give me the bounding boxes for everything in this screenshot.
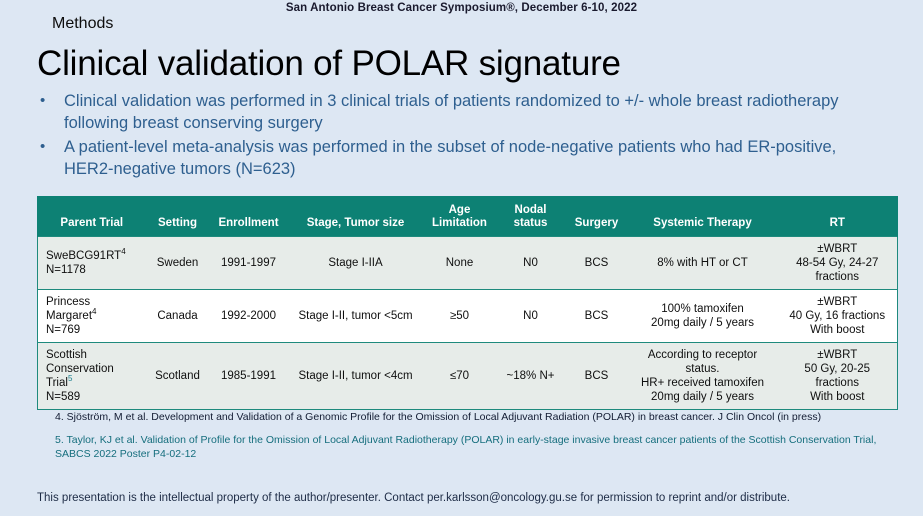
symposium-banner: San Antonio Breast Cancer Symposium®, De… — [0, 0, 923, 17]
page-title: Clinical validation of POLAR signature — [37, 43, 621, 85]
cell-parent-trial: SweBCG91RT4 N=1178 — [38, 237, 146, 290]
column-header-age-limitation: Age Limitation — [424, 196, 496, 237]
cell-enrollment: 1991-1997 — [210, 237, 288, 290]
list-item: • A patient-level meta-analysis was perf… — [40, 136, 890, 180]
cell-parent-trial: Princess Margaret4 N=769 — [38, 290, 146, 343]
cell-surgery: BCS — [566, 290, 628, 343]
cell-setting: Sweden — [146, 237, 210, 290]
trial-footnote-ref: 5 — [68, 374, 72, 383]
cell-enrollment: 1992-2000 — [210, 290, 288, 343]
footnote-reference-5: 5. Taylor, KJ et al. Validation of Profi… — [55, 433, 895, 461]
trial-n: N=769 — [46, 324, 80, 336]
column-header-parent-trial: Parent Trial — [38, 196, 146, 237]
column-header-stage-tumor-size: Stage, Tumor size — [288, 196, 424, 237]
cell-rt: ±WBRT50 Gy, 20-25fractionsWith boost — [778, 343, 898, 410]
trial-table-container: Parent Trial Setting Enrollment Stage, T… — [37, 196, 897, 410]
trial-table: Parent Trial Setting Enrollment Stage, T… — [37, 196, 898, 410]
cell-setting: Canada — [146, 290, 210, 343]
copyright-disclaimer: This presentation is the intellectual pr… — [37, 491, 897, 506]
column-header-surgery: Surgery — [566, 196, 628, 237]
cell-systemic-therapy: According to receptor status.HR+ receive… — [628, 343, 778, 410]
cell-rt: ±WBRT48-54 Gy, 24-27fractions — [778, 237, 898, 290]
cell-surgery: BCS — [566, 343, 628, 410]
cell-setting: Scotland — [146, 343, 210, 410]
table-row: Scottish Conservation Trial5 N=589 Scotl… — [38, 343, 898, 410]
section-label: Methods — [52, 14, 113, 34]
table-row: Princess Margaret4 N=769 Canada 1992-200… — [38, 290, 898, 343]
cell-age-limitation: ≥50 — [424, 290, 496, 343]
trial-n: N=589 — [46, 391, 80, 403]
column-header-systemic-therapy: Systemic Therapy — [628, 196, 778, 237]
cell-age-limitation: None — [424, 237, 496, 290]
cell-stage: Stage I-IIA — [288, 237, 424, 290]
footnote-reference-4: 4. Sjöström, M et al. Development and Va… — [55, 410, 895, 424]
trial-name: Princess Margaret — [46, 296, 92, 322]
table-row: SweBCG91RT4 N=1178 Sweden 1991-1997 Stag… — [38, 237, 898, 290]
bullet-list: • Clinical validation was performed in 3… — [40, 90, 890, 182]
trial-footnote-ref: 4 — [92, 307, 96, 316]
cell-nodal-status: N0 — [496, 237, 566, 290]
table-header-row: Parent Trial Setting Enrollment Stage, T… — [38, 196, 898, 237]
cell-nodal-status: ~18% N+ — [496, 343, 566, 410]
list-item: • Clinical validation was performed in 3… — [40, 90, 890, 134]
cell-systemic-therapy: 100% tamoxifen20mg daily / 5 years — [628, 290, 778, 343]
cell-enrollment: 1985-1991 — [210, 343, 288, 410]
cell-stage: Stage I-II, tumor <4cm — [288, 343, 424, 410]
trial-name: SweBCG91RT — [46, 250, 121, 262]
column-header-nodal-status: Nodal status — [496, 196, 566, 237]
trial-name: Scottish Conservation Trial — [46, 349, 114, 389]
trial-n: N=1178 — [46, 264, 86, 276]
bullet-dot-icon: • — [40, 90, 64, 112]
cell-rt: ±WBRT40 Gy, 16 fractionsWith boost — [778, 290, 898, 343]
column-header-setting: Setting — [146, 196, 210, 237]
bullet-dot-icon: • — [40, 136, 64, 158]
bullet-text: Clinical validation was performed in 3 c… — [64, 90, 890, 134]
trial-footnote-ref: 4 — [121, 247, 125, 256]
cell-stage: Stage I-II, tumor <5cm — [288, 290, 424, 343]
footnotes: 4. Sjöström, M et al. Development and Va… — [55, 410, 895, 470]
bullet-text: A patient-level meta-analysis was perfor… — [64, 136, 890, 180]
cell-systemic-therapy: 8% with HT or CT — [628, 237, 778, 290]
cell-surgery: BCS — [566, 237, 628, 290]
column-header-enrollment: Enrollment — [210, 196, 288, 237]
cell-parent-trial: Scottish Conservation Trial5 N=589 — [38, 343, 146, 410]
column-header-rt: RT — [778, 196, 898, 237]
cell-nodal-status: N0 — [496, 290, 566, 343]
cell-age-limitation: ≤70 — [424, 343, 496, 410]
